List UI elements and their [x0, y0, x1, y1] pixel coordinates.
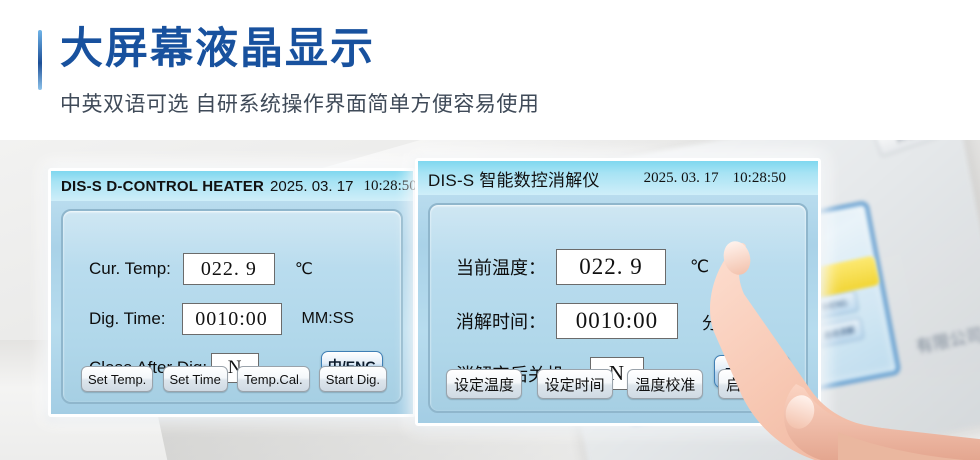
en-model-label: DIS-S D-CONTROL HEATER	[61, 178, 264, 195]
en-time-label: 10:28:50	[363, 178, 416, 195]
cn-field-current-temp[interactable]: 022. 9	[556, 249, 666, 285]
en-row-dig-time: Dig. Time: 0010:00 MM:SS	[89, 303, 354, 335]
en-screen-inner: Cur. Temp: 022. 9 ℃ Dig. Time: 0010:00 M…	[61, 209, 403, 404]
page-subtitle: 中英双语可选 自研系统操作界面简单方便容易使用	[60, 88, 539, 118]
cn-field-dig-time[interactable]: 0010:00	[556, 303, 678, 339]
en-titlebar: DIS-S D-CONTROL HEATER 2025. 03. 17 10:2…	[51, 171, 413, 201]
en-button-set-time[interactable]: Set Time	[163, 366, 228, 392]
cn-model-label: DIS-S 智能数控消解仪	[428, 166, 600, 191]
en-label-dig-time: Dig. Time:	[89, 309, 166, 329]
cn-label-dig-time: 消解时间：	[456, 308, 546, 334]
cn-button-set-time[interactable]: 设定时间	[537, 369, 613, 399]
en-field-current-temp[interactable]: 022. 9	[183, 253, 275, 285]
en-button-temp-cal[interactable]: Temp.Cal.	[237, 366, 310, 392]
cn-screen-inner: 当前温度： 022. 9 ℃ 消解时间： 0010:00 分：秒 消解完后关机：…	[428, 203, 808, 413]
page-title: 大屏幕液晶显示	[60, 28, 375, 71]
en-date-label: 2025. 03. 17	[270, 178, 353, 195]
english-lcd-panel[interactable]: DIS-S D-CONTROL HEATER 2025. 03. 17 10:2…	[48, 168, 416, 417]
cn-unit-celsius: ℃	[690, 257, 709, 277]
en-screen: Cur. Temp: 022. 9 ℃ Dig. Time: 0010:00 M…	[51, 201, 413, 414]
screenshot-stage: 智能数控消解仪 开机 有限公司 2025.03.17 10:28:50 022.…	[0, 0, 980, 460]
accent-bar	[38, 30, 42, 90]
cn-button-row: 设定温度 设定时间 温度校准 启动消解	[446, 369, 794, 399]
cn-screen: 当前温度： 022. 9 ℃ 消解时间： 0010:00 分：秒 消解完后关机：…	[418, 195, 818, 423]
en-row-current-temp: Cur. Temp: 022. 9 ℃	[89, 253, 313, 285]
cn-date-label: 2025. 03. 17	[644, 170, 719, 187]
cn-row-dig-time: 消解时间： 0010:00 分：秒	[456, 303, 753, 339]
cn-button-temp-cal[interactable]: 温度校准	[627, 369, 703, 399]
cn-unit-minsec: 分：秒	[702, 309, 753, 334]
en-field-dig-time[interactable]: 0010:00	[182, 303, 282, 335]
cn-time-label: 10:28:50	[733, 170, 786, 187]
en-button-start-dig[interactable]: Start Dig.	[319, 366, 387, 392]
cn-label-current-temp: 当前温度：	[456, 254, 546, 280]
cn-row-current-temp: 当前温度： 022. 9 ℃	[456, 249, 709, 285]
cn-titlebar: DIS-S 智能数控消解仪 2025. 03. 17 10:28:50	[418, 161, 818, 195]
en-button-set-temp[interactable]: Set Temp.	[81, 366, 153, 392]
chinese-lcd-panel[interactable]: DIS-S 智能数控消解仪 2025. 03. 17 10:28:50 当前温度…	[415, 158, 821, 426]
en-label-current-temp: Cur. Temp:	[89, 259, 171, 279]
cn-button-set-temp[interactable]: 设定温度	[446, 369, 522, 399]
en-unit-mmss: MM:SS	[302, 310, 354, 328]
cn-button-start-dig[interactable]: 启动消解	[718, 369, 794, 399]
en-unit-celsius: ℃	[295, 259, 313, 279]
en-button-row: Set Temp. Set Time Temp.Cal. Start Dig.	[81, 366, 387, 392]
banner: 大屏幕液晶显示 中英双语可选 自研系统操作界面简单方便容易使用	[0, 0, 980, 140]
